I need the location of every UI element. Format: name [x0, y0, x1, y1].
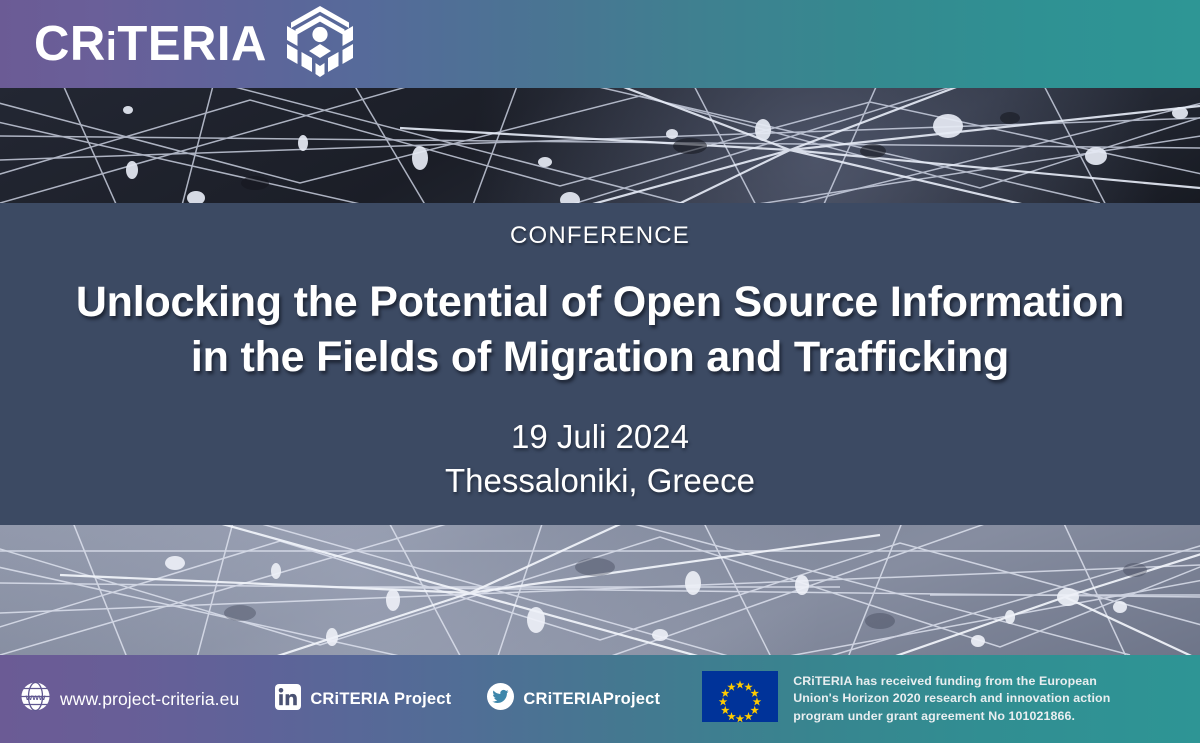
event-details: 19 Juli 2024 Thessaloniki, Greece: [0, 415, 1200, 503]
website-link[interactable]: www www.project-criteria.eu: [20, 681, 239, 717]
brand-prefix: CR: [34, 17, 106, 71]
svg-text:www: www: [25, 692, 46, 702]
event-date: 19 Juli 2024: [511, 418, 689, 455]
event-type-label: CONFERENCE: [0, 222, 1200, 250]
footer-links-group: www www.project-criteria.eu CRiTERIA Pro…: [20, 681, 660, 717]
header-band: CRiTERIA: [0, 0, 1200, 88]
brand-letter-i: i: [106, 25, 118, 69]
conference-poster: CRiTERIA: [0, 0, 1200, 743]
linkedin-icon: [275, 684, 301, 715]
criteria-cube-logo-icon: [281, 4, 359, 85]
brand-lockup: CRiTERIA: [34, 4, 359, 85]
event-location: Thessaloniki, Greece: [0, 459, 1200, 503]
website-url-label: www.project-criteria.eu: [60, 689, 239, 710]
eu-funding-block: CRiTERIA has received funding from the E…: [702, 671, 1110, 727]
main-content-panel: CONFERENCE Unlocking the Potential of Op…: [0, 203, 1200, 525]
twitter-link[interactable]: CRiTERIAProject: [487, 683, 660, 715]
twitter-handle-label: CRiTERIAProject: [523, 690, 660, 709]
title-line-2: in the Fields of Migration and Trafficki…: [18, 330, 1182, 385]
brand-wordmark: CRiTERIA: [34, 20, 267, 69]
page-title: Unlocking the Potential of Open Source I…: [0, 275, 1200, 385]
globe-www-icon: www: [20, 681, 51, 717]
linkedin-link[interactable]: CRiTERIA Project: [275, 684, 451, 715]
linkedin-handle-label: CRiTERIA Project: [310, 690, 451, 709]
brand-suffix: TERIA: [117, 17, 267, 71]
funding-statement: CRiTERIA has received funding from the E…: [793, 673, 1110, 724]
eu-flag-icon: [702, 671, 778, 727]
twitter-bird-icon: [487, 683, 514, 715]
network-mesh-band-top: [0, 88, 1200, 203]
network-mesh-band-bottom: [0, 525, 1200, 655]
footer-band: www www.project-criteria.eu CRiTERIA Pro…: [0, 655, 1200, 743]
title-line-1: Unlocking the Potential of Open Source I…: [76, 278, 1124, 326]
